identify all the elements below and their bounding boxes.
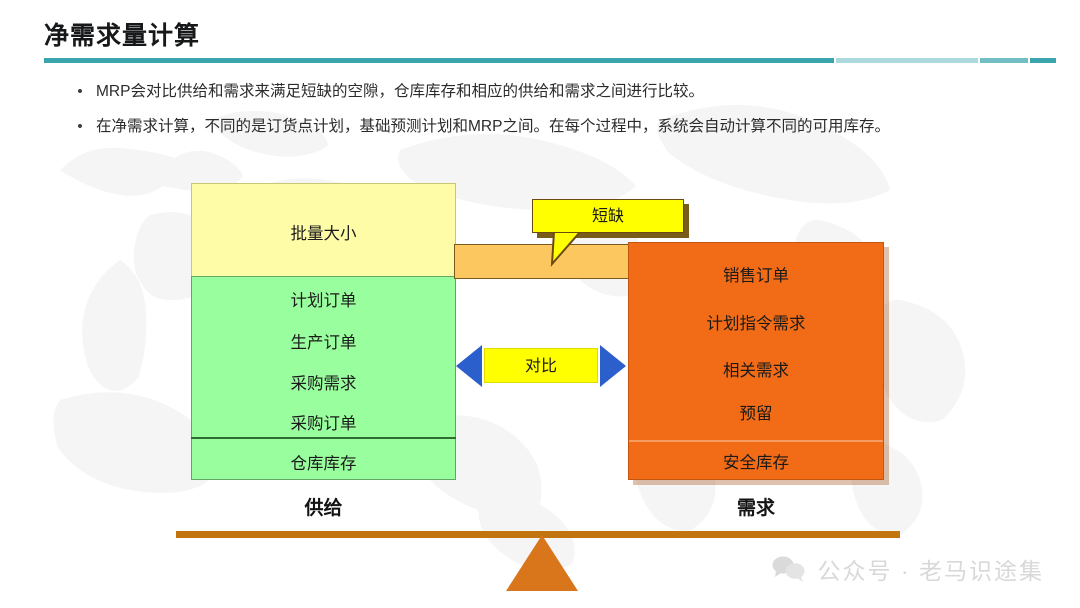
demand-caption: 需求 xyxy=(628,493,884,520)
shortage-callout-label: 短缺 xyxy=(533,200,683,234)
demand-item-planned-independent-requirement: 计划指令需求 xyxy=(629,310,883,334)
demand-safety-stock-separator xyxy=(629,440,883,442)
bullet-text: MRP会对比供给和需求来满足短缺的空隙，仓库库存和相应的供给和需求之间进行比较。 xyxy=(96,80,704,104)
supply-stock-separator xyxy=(191,437,456,439)
wechat-icon xyxy=(772,555,806,583)
supply-item-planned-order: 计划订单 xyxy=(192,287,455,311)
list-item: • MRP会对比供给和需求来满足短缺的空隙，仓库库存和相应的供给和需求之间进行比… xyxy=(64,80,1064,104)
supply-caption: 供给 xyxy=(191,493,456,520)
compare-label: 对比 xyxy=(485,349,597,384)
watermark: 公众号 · 老马识途集 xyxy=(772,552,1044,586)
bullet-list: • MRP会对比供给和需求来满足短缺的空隙，仓库库存和相应的供给和需求之间进行比… xyxy=(64,80,1064,150)
balance-fulcrum-icon xyxy=(506,535,578,591)
supply-item-production-order: 生产订单 xyxy=(192,329,455,353)
supply-item-purchase-order: 采购订单 xyxy=(192,410,455,434)
supply-box: 计划订单 生产订单 采购需求 采购订单 仓库库存 xyxy=(191,276,456,480)
supply-item-purchase-requisition: 采购需求 xyxy=(192,370,455,394)
compare-arrow-right-icon xyxy=(600,345,626,387)
shortage-callout: 短缺 xyxy=(532,199,684,233)
demand-item-reservation: 预留 xyxy=(629,400,883,424)
bullet-marker-icon: • xyxy=(64,115,96,139)
title-divider xyxy=(44,58,1056,63)
lot-size-box: 批量大小 xyxy=(191,183,456,276)
demand-item-safety-stock: 安全库存 xyxy=(629,449,883,473)
watermark-text: 公众号 · 老马识途集 xyxy=(818,552,1044,586)
demand-item-dependent-requirement: 相关需求 xyxy=(629,357,883,381)
list-item: • 在净需求计算，不同的是订货点计划，基础预测计划和MRP之间。在每个过程中，系… xyxy=(64,115,1064,139)
bullet-text: 在净需求计算，不同的是订货点计划，基础预测计划和MRP之间。在每个过程中，系统会… xyxy=(96,115,890,139)
lot-size-label: 批量大小 xyxy=(192,220,455,244)
compare-arrow-left-icon xyxy=(456,345,482,387)
bullet-marker-icon: • xyxy=(64,80,96,104)
page-title: 净需求量计算 xyxy=(44,16,200,52)
supply-item-warehouse-stock: 仓库库存 xyxy=(192,450,455,474)
demand-box: 销售订单 计划指令需求 相关需求 预留 安全库存 xyxy=(628,242,884,480)
compare-box: 对比 xyxy=(484,348,598,383)
demand-item-sales-order: 销售订单 xyxy=(629,262,883,286)
